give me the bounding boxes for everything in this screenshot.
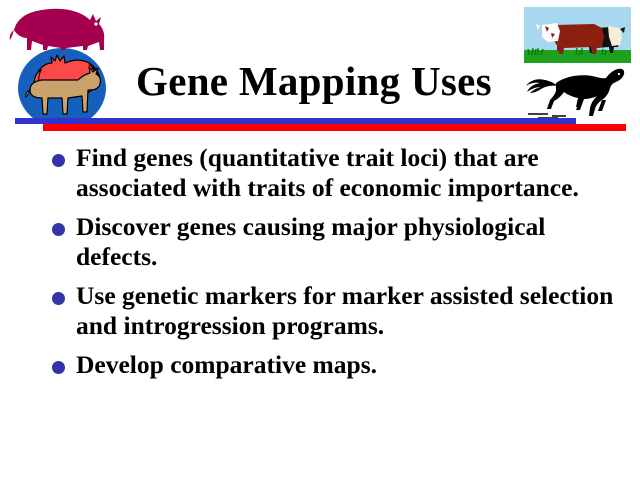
divider-red — [43, 124, 626, 131]
list-item: Find genes (quantitative trait loci) tha… — [50, 143, 620, 203]
page-title: Gene Mapping Uses — [136, 57, 516, 105]
list-item-label: Find genes (quantitative trait loci) tha… — [76, 143, 620, 203]
pig-icon — [10, 9, 105, 50]
list-item-label: Discover genes causing major physiologic… — [76, 212, 620, 272]
list-item: Develop comparative maps. — [50, 350, 620, 380]
list-item-label: Use genetic markers for marker assisted … — [76, 281, 620, 341]
bullet-list: Find genes (quantitative trait loci) tha… — [50, 143, 620, 380]
list-item: Discover genes causing major physiologic… — [50, 212, 620, 272]
horse-icon — [526, 69, 624, 116]
livestock-genome-logo — [8, 4, 116, 124]
bullet-dot-icon — [52, 223, 65, 236]
list-item-label: Develop comparative maps. — [76, 350, 620, 380]
bullet-dot-icon — [52, 292, 65, 305]
bullet-dot-icon — [52, 154, 65, 167]
list-item: Use genetic markers for marker assisted … — [50, 281, 620, 341]
cattle-pasture-photo — [524, 7, 631, 63]
slide-canvas: Gene Mapping Uses — [0, 0, 640, 480]
galloping-horse-silhouette — [518, 66, 632, 122]
bullet-dot-icon — [52, 361, 65, 374]
